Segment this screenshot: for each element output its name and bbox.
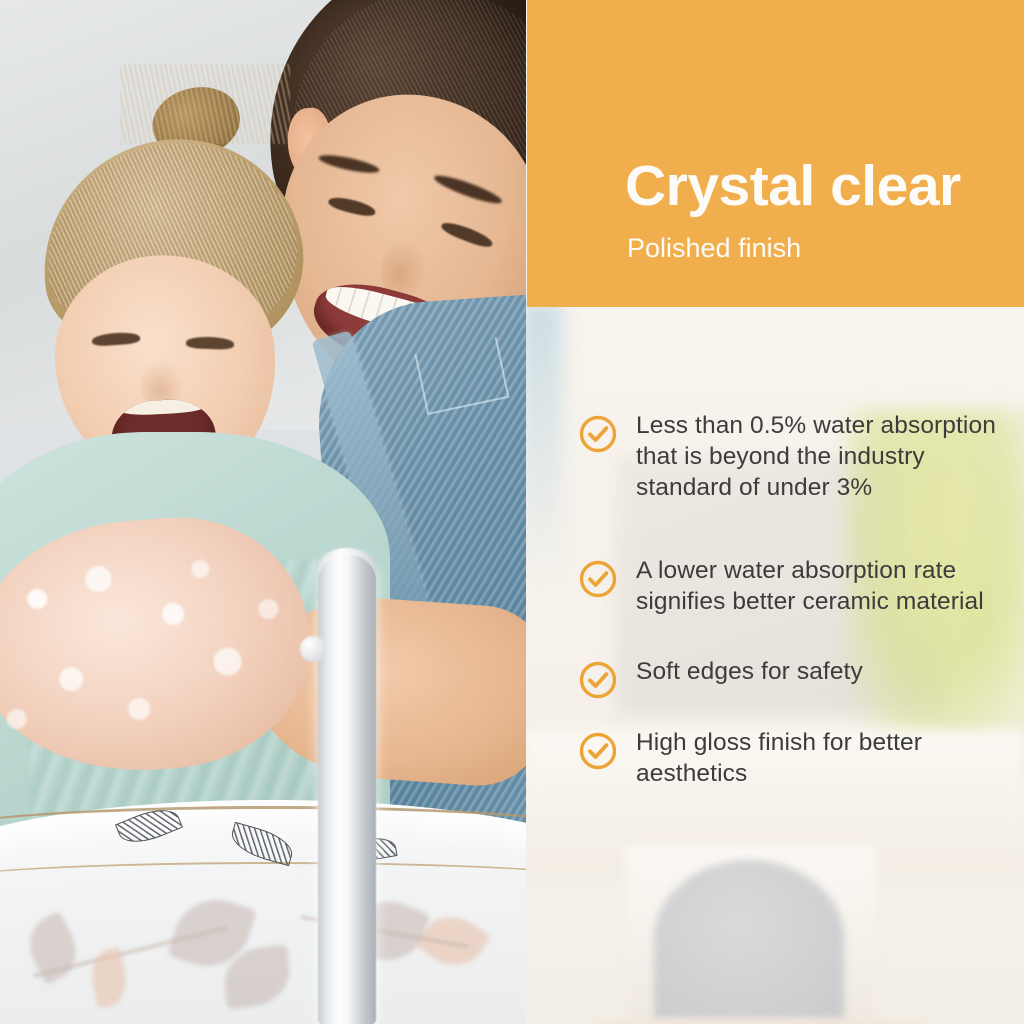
feature-item-2: A lower water absorption rate signifies … <box>578 556 1008 618</box>
feature-list: Less than 0.5% water absorption that is … <box>526 0 1024 1024</box>
chrome-faucet <box>318 555 376 1024</box>
child-hair-wisps <box>120 64 290 144</box>
feature-item-4: High gloss finish for better aesthetics <box>578 728 1008 790</box>
lifestyle-photo <box>0 0 526 1024</box>
soap-suds <box>0 524 316 774</box>
check-circle-icon <box>578 731 618 771</box>
basin-gold-band <box>0 862 526 904</box>
feature-item-1: Less than 0.5% water absorption that is … <box>578 411 1008 504</box>
feature-text: High gloss finish for better aesthetics <box>636 728 1008 790</box>
feature-text: A lower water absorption rate signifies … <box>636 556 1008 618</box>
check-circle-icon <box>578 559 618 599</box>
check-circle-icon <box>578 414 618 454</box>
feature-text: Soft edges for safety <box>636 657 863 688</box>
feature-text: Less than 0.5% water absorption that is … <box>636 411 1008 504</box>
faucet-knob <box>300 636 326 662</box>
product-feature-card: Crystal clear Polished finish Less than … <box>0 0 1024 1024</box>
feature-item-3: Soft edges for safety <box>578 657 1008 700</box>
content-panel: Crystal clear Polished finish Less than … <box>526 0 1024 1024</box>
check-circle-icon <box>578 660 618 700</box>
